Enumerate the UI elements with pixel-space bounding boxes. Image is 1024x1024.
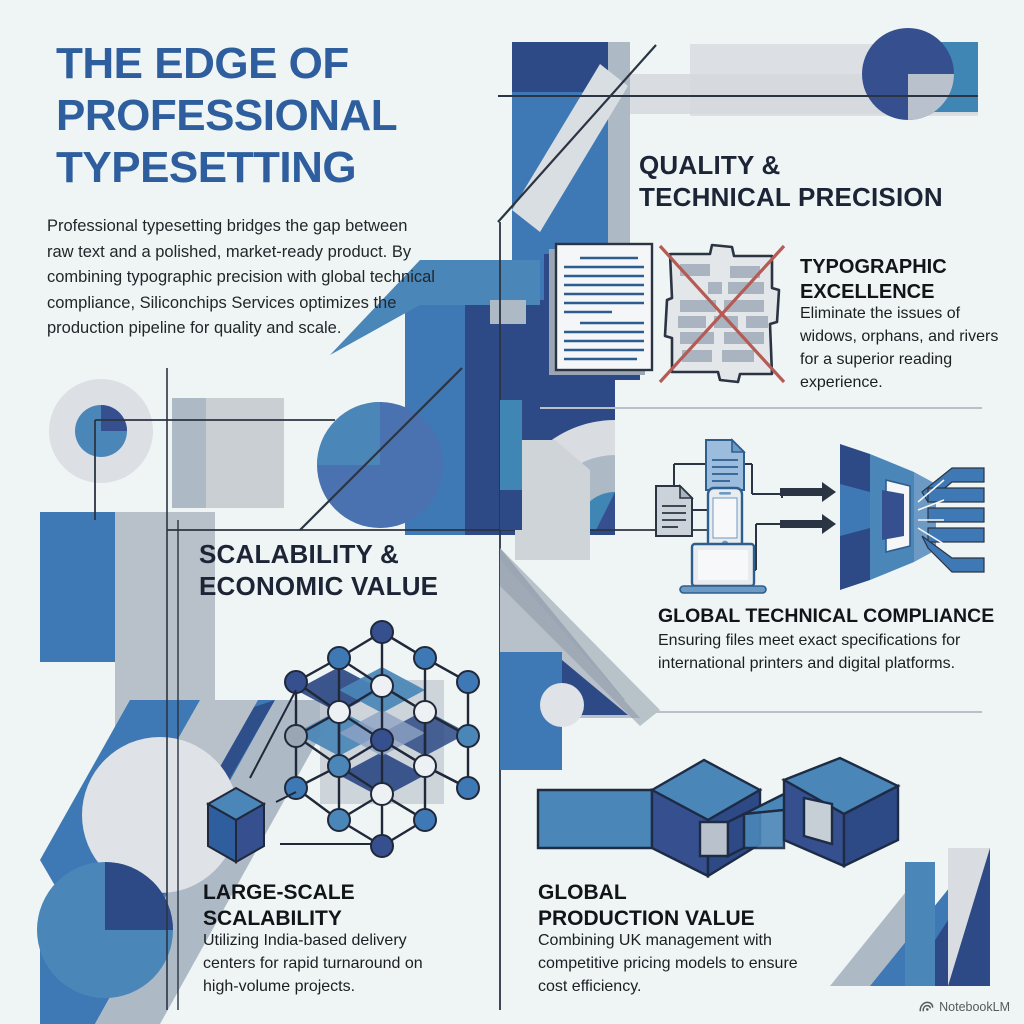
infographic-poster: THE EDGE OF PROFESSIONAL TYPESETTING Pro… bbox=[0, 0, 1024, 1024]
multi-device-pipeline-icon bbox=[652, 432, 986, 600]
subsection-body-large-scale-scalability: Utilizing India-based delivery centers f… bbox=[203, 929, 448, 998]
linked-cubes-icon bbox=[532, 752, 912, 878]
deco-navy-bar-mid-right bbox=[500, 490, 522, 530]
phone-icon bbox=[708, 488, 742, 550]
subsection-title-large-scale-scalability: LARGE-SCALE SCALABILITY bbox=[203, 880, 453, 932]
callout-cube-icon bbox=[208, 788, 264, 862]
subsection-title-typographic-excellence: TYPOGRAPHIC EXCELLENCE bbox=[800, 255, 1015, 305]
page-title: THE EDGE OF PROFESSIONAL TYPESETTING bbox=[56, 38, 476, 194]
deco-gray-rect-2 bbox=[172, 398, 206, 508]
section-heading-scalability: SCALABILITY & ECONOMIC VALUE bbox=[199, 538, 529, 602]
deco-bar-blue-bottomright bbox=[905, 862, 935, 986]
deco-circle-pale-right bbox=[540, 683, 584, 727]
subsection-title-global-technical-compliance: GLOBAL TECHNICAL COMPLIANCE bbox=[658, 604, 1018, 628]
intro-paragraph: Professional typesetting bridges the gap… bbox=[47, 214, 437, 342]
documents-vs-rivers-icon bbox=[532, 232, 794, 398]
subsection-body-global-technical-compliance: Ensuring files meet exact specifications… bbox=[658, 629, 988, 675]
deco-blue-rect-left bbox=[40, 512, 115, 662]
doc-icon-left bbox=[656, 486, 692, 536]
subsection-body-typographic-excellence: Eliminate the issues of widows, orphans,… bbox=[800, 302, 1005, 394]
section-heading-quality: QUALITY & TECHNICAL PRECISION bbox=[639, 149, 1019, 213]
subsection-title-global-production-value: GLOBAL PRODUCTION VALUE bbox=[538, 880, 808, 932]
arrow-icons bbox=[780, 482, 836, 534]
funnel-icon bbox=[840, 444, 936, 590]
subsection-body-global-production-value: Combining UK management with competitive… bbox=[538, 929, 808, 998]
watermark-label: NotebookLM bbox=[939, 1000, 1010, 1014]
cube-lattice-icon bbox=[192, 612, 488, 868]
laptop-icon bbox=[680, 544, 766, 593]
doc-icon-top bbox=[706, 440, 744, 490]
notebooklm-icon bbox=[919, 1001, 934, 1013]
watermark: NotebookLM bbox=[919, 1000, 1010, 1014]
